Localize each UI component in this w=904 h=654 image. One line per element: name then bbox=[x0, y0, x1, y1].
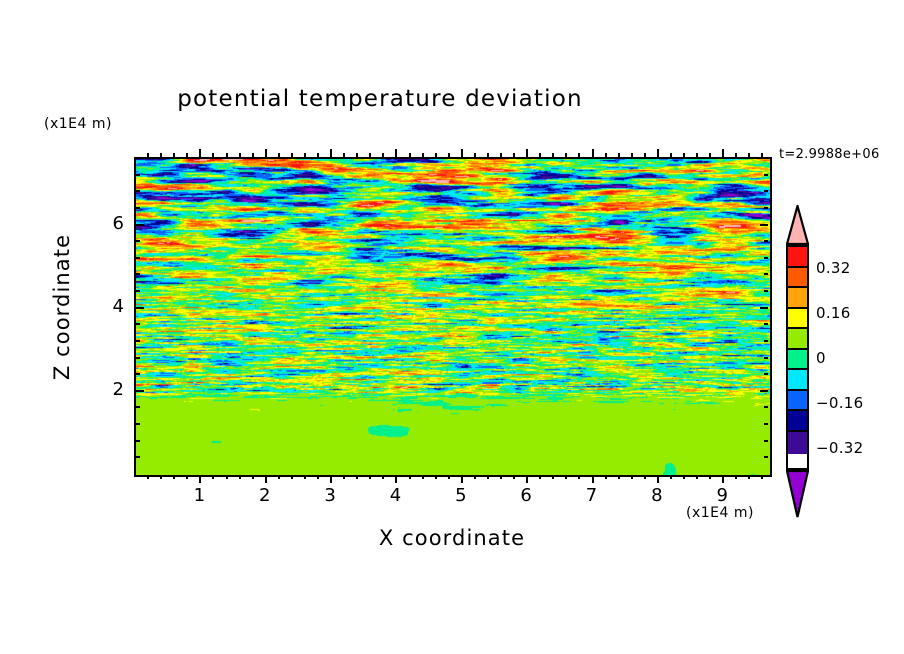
x-tick-top bbox=[304, 153, 306, 157]
x-tick bbox=[735, 475, 737, 479]
x-tick-top bbox=[709, 153, 711, 157]
x-tick bbox=[265, 475, 267, 483]
contour-field bbox=[136, 159, 770, 475]
colorbar-band bbox=[788, 350, 807, 371]
y-tick bbox=[136, 357, 140, 359]
y-tick-right bbox=[764, 406, 768, 408]
x-tick bbox=[448, 475, 450, 479]
x-tick bbox=[291, 475, 293, 479]
x-tick-top bbox=[657, 149, 659, 157]
x-tick-top bbox=[552, 153, 554, 157]
plot-area bbox=[134, 157, 772, 477]
x-tick-label: 5 bbox=[446, 485, 476, 506]
x-tick bbox=[186, 475, 188, 479]
y-tick bbox=[136, 340, 140, 342]
y-tick-right bbox=[764, 257, 768, 259]
colorbar-band bbox=[788, 247, 807, 268]
x-tick-top bbox=[147, 153, 149, 157]
x-tick-top bbox=[239, 153, 241, 157]
x-tick-label: 6 bbox=[511, 485, 541, 506]
x-tick-top bbox=[212, 153, 214, 157]
x-tick bbox=[487, 475, 489, 479]
y-tick bbox=[136, 207, 140, 209]
x-tick bbox=[461, 475, 463, 483]
x-tick bbox=[552, 475, 554, 479]
x-tick bbox=[226, 475, 228, 479]
y-tick-right bbox=[764, 423, 768, 425]
x-tick bbox=[539, 475, 541, 479]
x-tick-top bbox=[565, 153, 567, 157]
x-tick bbox=[382, 475, 384, 479]
x-tick bbox=[199, 475, 201, 483]
x-tick bbox=[748, 475, 750, 479]
y-tick bbox=[136, 257, 140, 259]
x-tick bbox=[513, 475, 515, 479]
x-tick-top bbox=[722, 149, 724, 157]
x-tick-top bbox=[448, 153, 450, 157]
colorbar-band bbox=[788, 411, 807, 432]
x-tick-top bbox=[343, 153, 345, 157]
x-tick-top bbox=[409, 153, 411, 157]
x-tick bbox=[500, 475, 502, 479]
x-tick-label: 8 bbox=[642, 485, 672, 506]
y-tick bbox=[136, 240, 140, 242]
x-tick bbox=[160, 475, 162, 479]
x-tick bbox=[657, 475, 659, 483]
x-tick-label: 4 bbox=[380, 485, 410, 506]
y-tick bbox=[136, 406, 140, 408]
x-tick-top bbox=[500, 153, 502, 157]
x-tick-top bbox=[735, 153, 737, 157]
x-tick-top bbox=[186, 153, 188, 157]
y-tick bbox=[136, 390, 144, 392]
x-tick-top bbox=[265, 149, 267, 157]
x-tick bbox=[317, 475, 319, 479]
colorbar-band bbox=[788, 329, 807, 350]
x-tick-top bbox=[539, 153, 541, 157]
colorbar-tick-label: 0 bbox=[816, 349, 826, 367]
y-tick-right bbox=[764, 273, 768, 275]
x-tick-top bbox=[317, 153, 319, 157]
x-tick bbox=[343, 475, 345, 479]
page-title: potential temperature deviation bbox=[0, 86, 760, 112]
x-tick-top bbox=[369, 153, 371, 157]
x-tick-label: 2 bbox=[250, 485, 280, 506]
x-tick-top bbox=[435, 153, 437, 157]
y-tick-right bbox=[760, 307, 768, 309]
figure-canvas: potential temperature deviation (x1E4 m)… bbox=[0, 0, 904, 654]
x-tick bbox=[435, 475, 437, 479]
colorbar-tick-label: −0.32 bbox=[816, 439, 863, 457]
x-tick bbox=[670, 475, 672, 479]
x-tick bbox=[409, 475, 411, 479]
x-axis-title: X coordinate bbox=[0, 526, 904, 550]
y-tick-label: 2 bbox=[94, 379, 124, 400]
x-tick-label: 1 bbox=[184, 485, 214, 506]
x-tick bbox=[330, 475, 332, 483]
x-tick bbox=[683, 475, 685, 479]
x-tick bbox=[395, 475, 397, 483]
y-tick bbox=[136, 190, 140, 192]
colorbar-band bbox=[788, 288, 807, 309]
y-tick-right bbox=[764, 323, 768, 325]
y-tick bbox=[136, 224, 144, 226]
x-axis-unit-label: (x1E4 m) bbox=[686, 505, 754, 521]
x-tick-top bbox=[644, 153, 646, 157]
x-tick-top bbox=[278, 153, 280, 157]
y-tick-right bbox=[764, 340, 768, 342]
y-tick-right bbox=[764, 190, 768, 192]
y-tick-label: 4 bbox=[94, 296, 124, 317]
x-tick-top bbox=[670, 153, 672, 157]
colorbar-under-cap bbox=[786, 470, 809, 518]
x-tick bbox=[422, 475, 424, 479]
y-tick bbox=[136, 273, 140, 275]
x-tick-top bbox=[395, 149, 397, 157]
x-tick bbox=[644, 475, 646, 479]
x-tick-top bbox=[356, 153, 358, 157]
colorbar-tick-label: −0.16 bbox=[816, 394, 863, 412]
x-tick bbox=[239, 475, 241, 479]
colorbar-tick-label: 0.16 bbox=[816, 304, 851, 322]
y-tick-right bbox=[764, 174, 768, 176]
y-tick bbox=[136, 290, 140, 292]
x-tick-top bbox=[252, 153, 254, 157]
x-tick bbox=[474, 475, 476, 479]
x-tick bbox=[304, 475, 306, 479]
colorbar-band bbox=[788, 309, 807, 330]
x-tick bbox=[278, 475, 280, 479]
colorbar-band bbox=[788, 268, 807, 289]
x-tick-top bbox=[526, 149, 528, 157]
x-tick-top bbox=[160, 153, 162, 157]
y-tick-right bbox=[760, 224, 768, 226]
x-tick bbox=[722, 475, 724, 483]
x-tick-label: 7 bbox=[577, 485, 607, 506]
y-tick-right bbox=[764, 290, 768, 292]
colorbar-band bbox=[788, 432, 807, 455]
x-tick-top bbox=[618, 153, 620, 157]
x-tick-top bbox=[578, 153, 580, 157]
y-tick bbox=[136, 373, 140, 375]
colorbar-tick-label: 0.32 bbox=[816, 259, 851, 277]
x-tick bbox=[592, 475, 594, 483]
x-tick bbox=[578, 475, 580, 479]
x-tick bbox=[631, 475, 633, 479]
x-tick-top bbox=[631, 153, 633, 157]
x-tick-top bbox=[605, 153, 607, 157]
y-tick bbox=[136, 456, 140, 458]
y-tick-right bbox=[764, 207, 768, 209]
y-tick bbox=[136, 307, 144, 309]
y-tick bbox=[136, 423, 140, 425]
x-tick bbox=[618, 475, 620, 479]
x-tick bbox=[709, 475, 711, 479]
x-tick-top bbox=[592, 149, 594, 157]
x-tick bbox=[761, 475, 763, 479]
x-tick-top bbox=[474, 153, 476, 157]
x-tick-top bbox=[226, 153, 228, 157]
x-tick-top bbox=[330, 149, 332, 157]
y-tick bbox=[136, 174, 140, 176]
colorbar-band bbox=[788, 391, 807, 412]
y-axis-title: Z coordinate bbox=[50, 207, 74, 407]
x-tick-top bbox=[761, 153, 763, 157]
x-tick bbox=[369, 475, 371, 479]
x-tick-top bbox=[683, 153, 685, 157]
y-tick-right bbox=[764, 240, 768, 242]
x-tick-top bbox=[173, 153, 175, 157]
x-tick bbox=[605, 475, 607, 479]
x-tick-label: 9 bbox=[707, 485, 737, 506]
x-tick bbox=[356, 475, 358, 479]
x-tick-label: 3 bbox=[315, 485, 345, 506]
x-tick-top bbox=[487, 153, 489, 157]
x-tick-top bbox=[291, 153, 293, 157]
colorbar bbox=[786, 245, 809, 470]
x-tick bbox=[173, 475, 175, 479]
y-tick bbox=[136, 323, 140, 325]
y-tick-label: 6 bbox=[94, 213, 124, 234]
x-tick bbox=[565, 475, 567, 479]
x-tick bbox=[252, 475, 254, 479]
x-tick-top bbox=[422, 153, 424, 157]
x-tick bbox=[526, 475, 528, 483]
x-tick bbox=[212, 475, 214, 479]
x-tick-top bbox=[513, 153, 515, 157]
x-tick bbox=[696, 475, 698, 479]
y-tick-right bbox=[764, 456, 768, 458]
x-tick-top bbox=[461, 149, 463, 157]
y-tick-right bbox=[764, 373, 768, 375]
colorbar-band bbox=[788, 370, 807, 391]
colorbar-over-cap bbox=[786, 205, 809, 245]
y-tick-right bbox=[760, 390, 768, 392]
x-tick-top bbox=[199, 149, 201, 157]
x-tick bbox=[147, 475, 149, 479]
x-tick-top bbox=[748, 153, 750, 157]
y-tick-right bbox=[764, 357, 768, 359]
x-tick-top bbox=[382, 153, 384, 157]
x-tick-top bbox=[696, 153, 698, 157]
y-tick-right bbox=[764, 440, 768, 442]
y-axis-unit-label: (x1E4 m) bbox=[44, 116, 112, 132]
y-tick bbox=[136, 440, 140, 442]
time-annotation: t=2.9988e+06 bbox=[779, 147, 880, 162]
